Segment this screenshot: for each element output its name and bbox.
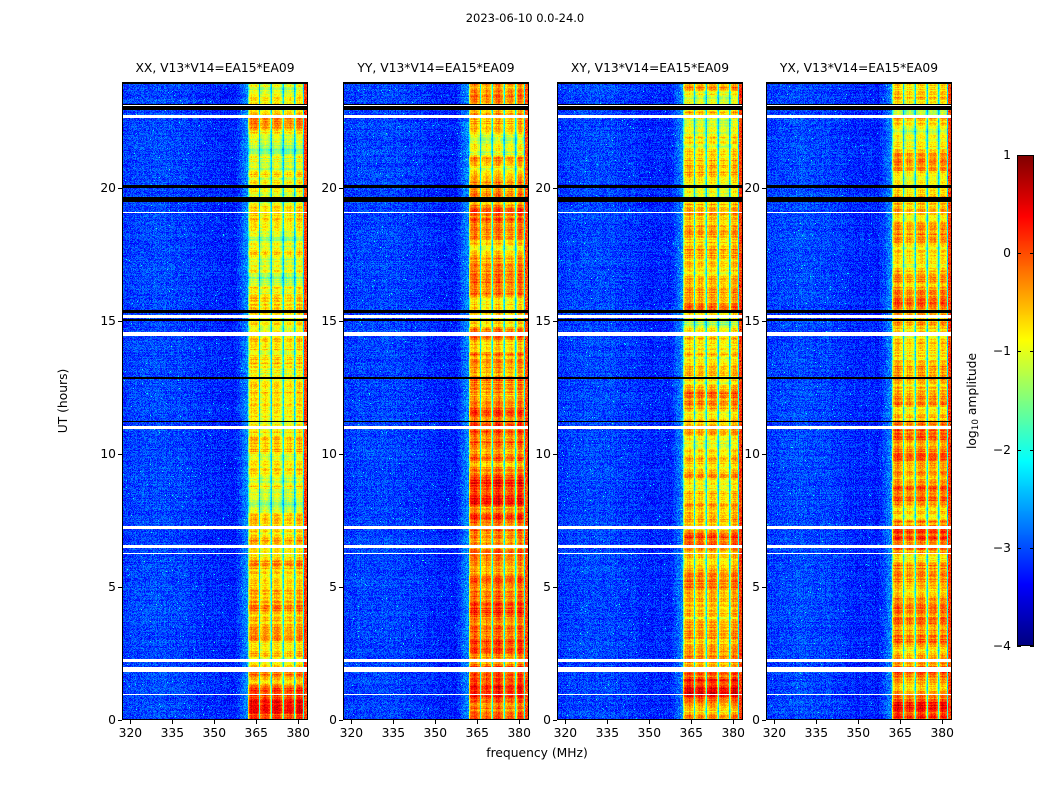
waterfall-image-yy <box>343 82 529 720</box>
y-tick-label: 0 <box>722 713 760 727</box>
y-tick-label: 20 <box>78 181 116 195</box>
y-tick-label: 0 <box>299 713 337 727</box>
y-tick-label: 0 <box>78 713 116 727</box>
waterfall-panel-xx[interactable]: XX, V13*V14=EA15*EA09 <box>122 82 308 720</box>
colorbar-tick-mark <box>1017 548 1021 549</box>
x-tick-mark <box>649 720 650 724</box>
y-tick-label: 15 <box>299 314 337 328</box>
x-tick-label: 350 <box>203 726 226 740</box>
x-tick-mark <box>214 720 215 724</box>
x-tick-mark <box>393 720 394 724</box>
waterfall-image-yx <box>766 82 952 720</box>
x-tick-mark <box>816 720 817 724</box>
y-tick-mark <box>118 321 122 322</box>
waterfall-image-xx <box>122 82 308 720</box>
x-tick-label: 380 <box>507 726 530 740</box>
y-tick-label: 10 <box>513 447 551 461</box>
panel-title-yx: YX, V13*V14=EA15*EA09 <box>766 61 952 75</box>
colorbar-tick-mark <box>1017 155 1021 156</box>
x-tick-label: 320 <box>763 726 786 740</box>
x-tick-label: 365 <box>466 726 489 740</box>
x-tick-label: 380 <box>930 726 953 740</box>
colorbar-tick-label: 0 <box>973 246 1011 260</box>
y-tick-mark <box>339 321 343 322</box>
colorbar-tick-mark <box>1017 253 1021 254</box>
x-tick-label: 350 <box>424 726 447 740</box>
y-tick-mark <box>118 188 122 189</box>
colorbar-tick-label: −4 <box>973 639 1011 653</box>
colorbar-tick-mark <box>1030 548 1034 549</box>
x-tick-label: 380 <box>286 726 309 740</box>
x-tick-mark <box>858 720 859 724</box>
colorbar-tick-mark <box>1030 253 1034 254</box>
y-tick-label: 5 <box>299 580 337 594</box>
y-tick-mark <box>339 188 343 189</box>
colorbar-axis-label: log10 amplitude <box>965 352 981 448</box>
x-tick-label: 335 <box>161 726 184 740</box>
y-tick-label: 15 <box>513 314 551 328</box>
y-tick-mark <box>553 454 557 455</box>
waterfall-panel-xy[interactable]: XY, V13*V14=EA15*EA09 <box>557 82 743 720</box>
y-tick-label: 20 <box>722 181 760 195</box>
x-tick-label: 380 <box>721 726 744 740</box>
y-tick-mark <box>762 454 766 455</box>
y-tick-label: 5 <box>78 580 116 594</box>
panel-title-xx: XX, V13*V14=EA15*EA09 <box>122 61 308 75</box>
y-tick-label: 5 <box>513 580 551 594</box>
x-axis-label: frequency (MHz) <box>0 746 1050 760</box>
panel-title-yy: YY, V13*V14=EA15*EA09 <box>343 61 529 75</box>
colorbar-tick-mark <box>1017 351 1021 352</box>
colorbar-tick-mark <box>1030 450 1034 451</box>
colorbar-tick-mark <box>1030 155 1034 156</box>
x-tick-label: 335 <box>805 726 828 740</box>
x-tick-label: 365 <box>889 726 912 740</box>
x-tick-mark <box>477 720 478 724</box>
x-tick-mark <box>900 720 901 724</box>
colorbar <box>1017 155 1034 646</box>
x-tick-mark <box>435 720 436 724</box>
y-tick-mark <box>339 587 343 588</box>
y-tick-label: 0 <box>513 713 551 727</box>
y-tick-mark <box>339 454 343 455</box>
colorbar-label-prefix: log <box>965 430 979 449</box>
x-tick-label: 335 <box>382 726 405 740</box>
y-tick-mark <box>762 720 766 721</box>
x-tick-mark <box>565 720 566 724</box>
y-tick-mark <box>762 587 766 588</box>
y-tick-label: 10 <box>722 447 760 461</box>
x-tick-mark <box>942 720 943 724</box>
x-tick-label: 320 <box>119 726 142 740</box>
y-tick-label: 20 <box>299 181 337 195</box>
colorbar-tick-mark <box>1017 450 1021 451</box>
x-tick-mark <box>691 720 692 724</box>
x-tick-mark <box>172 720 173 724</box>
colorbar-tick-label: 1 <box>973 148 1011 162</box>
colorbar-tick-label: −3 <box>973 541 1011 555</box>
colorbar-tick-mark <box>1017 646 1021 647</box>
y-tick-label: 10 <box>78 447 116 461</box>
y-tick-mark <box>553 720 557 721</box>
y-tick-label: 15 <box>78 314 116 328</box>
x-tick-label: 350 <box>847 726 870 740</box>
colorbar-gradient <box>1017 155 1034 646</box>
colorbar-tick-mark <box>1030 646 1034 647</box>
figure-suptitle: 2023-06-10 0.0-24.0 <box>0 11 1050 25</box>
waterfall-panel-yy[interactable]: YY, V13*V14=EA15*EA09 <box>343 82 529 720</box>
waterfall-panel-yx[interactable]: YX, V13*V14=EA15*EA09 <box>766 82 952 720</box>
y-tick-label: 5 <box>722 580 760 594</box>
y-tick-mark <box>118 587 122 588</box>
y-tick-label: 15 <box>722 314 760 328</box>
y-tick-mark <box>553 321 557 322</box>
y-tick-mark <box>118 454 122 455</box>
y-tick-mark <box>339 720 343 721</box>
waterfall-image-xy <box>557 82 743 720</box>
y-tick-mark <box>118 720 122 721</box>
x-tick-label: 335 <box>596 726 619 740</box>
y-axis-label: UT (hours) <box>56 369 70 434</box>
x-tick-label: 365 <box>245 726 268 740</box>
y-tick-mark <box>553 188 557 189</box>
x-tick-label: 365 <box>680 726 703 740</box>
x-tick-mark <box>351 720 352 724</box>
x-tick-mark <box>256 720 257 724</box>
colorbar-label-suffix: amplitude <box>965 352 979 418</box>
x-tick-label: 320 <box>340 726 363 740</box>
x-tick-label: 320 <box>554 726 577 740</box>
y-tick-mark <box>762 321 766 322</box>
colorbar-tick-mark <box>1030 351 1034 352</box>
figure-canvas: 2023-06-10 0.0-24.0 XX, V13*V14=EA15*EA0… <box>0 0 1050 800</box>
x-tick-mark <box>130 720 131 724</box>
y-tick-mark <box>553 587 557 588</box>
colorbar-label-subscript: 10 <box>971 419 981 430</box>
y-tick-label: 10 <box>299 447 337 461</box>
y-tick-label: 20 <box>513 181 551 195</box>
x-tick-mark <box>774 720 775 724</box>
x-tick-label: 350 <box>638 726 661 740</box>
y-tick-mark <box>762 188 766 189</box>
panel-title-xy: XY, V13*V14=EA15*EA09 <box>557 61 743 75</box>
x-tick-mark <box>607 720 608 724</box>
